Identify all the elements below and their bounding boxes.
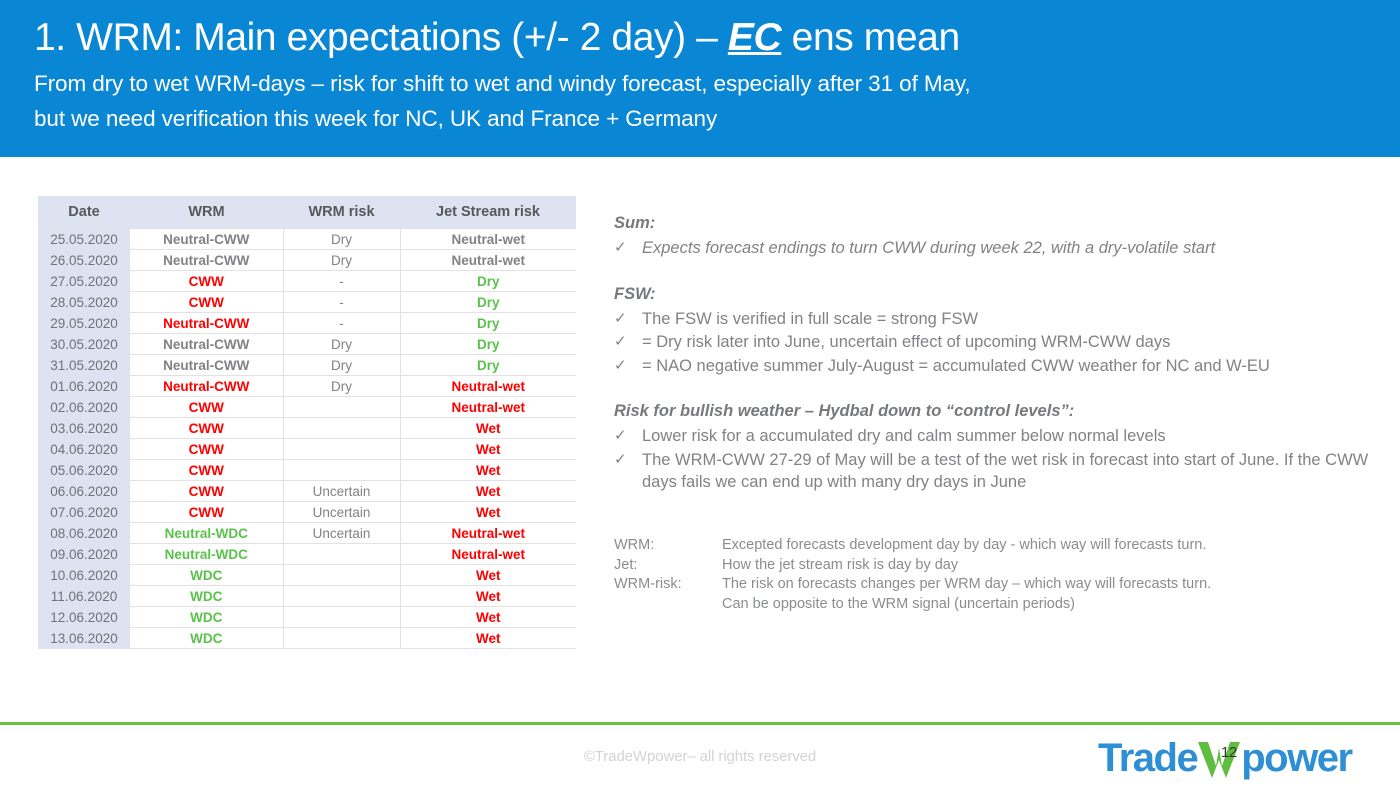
table-row: 11.06.2020WDCWet — [38, 586, 576, 607]
slide-header-banner: 1. WRM: Main expectations (+/- 2 day) – … — [0, 0, 1400, 157]
legend-definition: Can be opposite to the WRM signal (uncer… — [722, 595, 1374, 615]
table-row: 27.05.2020CWW-Dry — [38, 271, 576, 292]
checkmark-icon: ✓ — [614, 331, 642, 354]
table-row: 28.05.2020CWW-Dry — [38, 292, 576, 313]
cell-wrm: CWW — [130, 292, 283, 313]
legend-definition: How the jet stream risk is day by day — [722, 556, 1374, 576]
cell-jet-risk: Neutral-wet — [400, 376, 576, 397]
cell-date: 03.06.2020 — [38, 418, 130, 439]
cell-wrm-risk: Uncertain — [283, 523, 400, 544]
legend-term: Jet: — [614, 556, 722, 576]
notes-bullet: ✓The FSW is verified in full scale = str… — [614, 308, 1374, 331]
cell-wrm-risk — [283, 544, 400, 565]
cell-wrm: Neutral-CWW — [130, 376, 283, 397]
cell-wrm: CWW — [130, 502, 283, 523]
cell-wrm: WDC — [130, 628, 283, 649]
table-row: 09.06.2020Neutral-WDCNeutral-wet — [38, 544, 576, 565]
cell-date: 25.05.2020 — [38, 229, 130, 250]
cell-wrm: CWW — [130, 271, 283, 292]
page-subtitle-line2: but we need verification this week for N… — [34, 101, 1400, 136]
cell-jet-risk: Wet — [400, 481, 576, 502]
cell-jet-risk: Neutral-wet — [400, 544, 576, 565]
analysis-notes: Sum:✓Expects forecast endings to turn CW… — [614, 212, 1374, 495]
notes-section-heading: Risk for bullish weather – Hydbal down t… — [614, 400, 1374, 422]
cell-date: 12.06.2020 — [38, 607, 130, 628]
checkmark-icon: ✓ — [614, 449, 642, 494]
notes-bullet: ✓= NAO negative summer July-August = acc… — [614, 355, 1374, 378]
cell-date: 09.06.2020 — [38, 544, 130, 565]
cell-date: 27.05.2020 — [38, 271, 130, 292]
cell-wrm-risk — [283, 586, 400, 607]
notes-bullet: ✓The WRM-CWW 27-29 of May will be a test… — [614, 449, 1374, 494]
table-row: 31.05.2020Neutral-CWWDryDry — [38, 355, 576, 376]
cell-wrm-risk: Dry — [283, 376, 400, 397]
column-header-date: Date — [38, 196, 130, 229]
notes-bullet-text: = Dry risk later into June, uncertain ef… — [642, 331, 1374, 354]
cell-wrm: CWW — [130, 481, 283, 502]
legend-term: WRM: — [614, 536, 722, 556]
legend-term — [614, 595, 722, 615]
cell-wrm: Neutral-CWW — [130, 313, 283, 334]
logo-text-power: power — [1241, 736, 1351, 781]
cell-jet-risk: Wet — [400, 586, 576, 607]
cell-jet-risk: Wet — [400, 460, 576, 481]
table-row: 03.06.2020CWWWet — [38, 418, 576, 439]
cell-wrm-risk — [283, 439, 400, 460]
page-title-post: ens mean — [781, 16, 960, 59]
logo-text-trade: Trade — [1098, 736, 1197, 781]
table-row: 26.05.2020Neutral-CWWDryNeutral-wet — [38, 250, 576, 271]
cell-wrm: CWW — [130, 439, 283, 460]
cell-date: 13.06.2020 — [38, 628, 130, 649]
cell-date: 10.06.2020 — [38, 565, 130, 586]
notes-bullet-text: The WRM-CWW 27-29 of May will be a test … — [642, 449, 1374, 494]
legend-term: WRM-risk: — [614, 575, 722, 595]
cell-jet-risk: Wet — [400, 502, 576, 523]
table-row: 05.06.2020CWWWet — [38, 460, 576, 481]
page-subtitle-line1: From dry to wet WRM-days – risk for shif… — [34, 66, 1400, 101]
column-header-wrm-risk: WRM risk — [283, 196, 400, 229]
cell-date: 11.06.2020 — [38, 586, 130, 607]
cell-wrm-risk: Uncertain — [283, 481, 400, 502]
cell-date: 04.06.2020 — [38, 439, 130, 460]
cell-jet-risk: Neutral-wet — [400, 250, 576, 271]
cell-wrm: CWW — [130, 460, 283, 481]
wrm-forecast-table: Date WRM WRM risk Jet Stream risk 25.05.… — [38, 196, 576, 649]
cell-wrm-risk: Dry — [283, 334, 400, 355]
cell-wrm-risk: - — [283, 292, 400, 313]
legend-row: WRM-risk:The risk on forecasts changes p… — [614, 575, 1374, 595]
cell-wrm: WDC — [130, 607, 283, 628]
cell-jet-risk: Wet — [400, 607, 576, 628]
legend-row: Jet:How the jet stream risk is day by da… — [614, 556, 1374, 576]
column-header-wrm: WRM — [130, 196, 283, 229]
checkmark-icon: ✓ — [614, 355, 642, 378]
cell-wrm: CWW — [130, 418, 283, 439]
table-row: 25.05.2020Neutral-CWWDryNeutral-wet — [38, 229, 576, 250]
legend-definition: The risk on forecasts changes per WRM da… — [722, 575, 1374, 595]
cell-wrm: CWW — [130, 397, 283, 418]
legend-row: WRM:Excepted forecasts development day b… — [614, 536, 1374, 556]
table-header-row: Date WRM WRM risk Jet Stream risk — [38, 196, 576, 229]
cell-wrm-risk — [283, 565, 400, 586]
cell-date: 31.05.2020 — [38, 355, 130, 376]
notes-spacer — [614, 261, 1374, 283]
cell-jet-risk: Dry — [400, 313, 576, 334]
cell-date: 30.05.2020 — [38, 334, 130, 355]
cell-wrm-risk: Uncertain — [283, 502, 400, 523]
table-row: 01.06.2020Neutral-CWWDryNeutral-wet — [38, 376, 576, 397]
legend-row: Can be opposite to the WRM signal (uncer… — [614, 595, 1374, 615]
cell-date: 01.06.2020 — [38, 376, 130, 397]
table-row: 12.06.2020WDCWet — [38, 607, 576, 628]
notes-section-heading: Sum: — [614, 212, 1374, 234]
cell-date: 26.05.2020 — [38, 250, 130, 271]
cell-jet-risk: Dry — [400, 271, 576, 292]
wrm-forecast-table-container: Date WRM WRM risk Jet Stream risk 25.05.… — [38, 196, 576, 649]
table-row: 07.06.2020CWWUncertainWet — [38, 502, 576, 523]
checkmark-icon: ✓ — [614, 308, 642, 331]
cell-wrm-risk: - — [283, 313, 400, 334]
legend-definition: Excepted forecasts development day by da… — [722, 536, 1374, 556]
cell-jet-risk: Neutral-wet — [400, 523, 576, 544]
notes-spacer — [614, 378, 1374, 400]
cell-wrm-risk — [283, 628, 400, 649]
cell-date: 07.06.2020 — [38, 502, 130, 523]
cell-jet-risk: Dry — [400, 292, 576, 313]
cell-wrm: Neutral-CWW — [130, 355, 283, 376]
cell-jet-risk: Neutral-wet — [400, 229, 576, 250]
notes-bullet: ✓= Dry risk later into June, uncertain e… — [614, 331, 1374, 354]
table-row: 06.06.2020CWWUncertainWet — [38, 481, 576, 502]
cell-jet-risk: Wet — [400, 418, 576, 439]
table-row: 30.05.2020Neutral-CWWDryDry — [38, 334, 576, 355]
cell-jet-risk: Wet — [400, 565, 576, 586]
cell-date: 28.05.2020 — [38, 292, 130, 313]
cell-wrm: Neutral-WDC — [130, 544, 283, 565]
cell-jet-risk: Dry — [400, 355, 576, 376]
cell-wrm: Neutral-WDC — [130, 523, 283, 544]
table-row: 13.06.2020WDCWet — [38, 628, 576, 649]
cell-wrm: WDC — [130, 565, 283, 586]
checkmark-icon: ✓ — [614, 425, 642, 448]
cell-wrm-risk: Dry — [283, 250, 400, 271]
table-body: 25.05.2020Neutral-CWWDryNeutral-wet26.05… — [38, 229, 576, 649]
cell-wrm-risk — [283, 418, 400, 439]
page-number: 12 — [1221, 744, 1237, 761]
table-row: 02.06.2020CWWNeutral-wet — [38, 397, 576, 418]
checkmark-icon: ✓ — [614, 237, 642, 260]
cell-wrm-risk: Dry — [283, 229, 400, 250]
table-row: 29.05.2020Neutral-CWW-Dry — [38, 313, 576, 334]
column-header-jet-risk: Jet Stream risk — [400, 196, 576, 229]
cell-date: 02.06.2020 — [38, 397, 130, 418]
cell-wrm: Neutral-CWW — [130, 250, 283, 271]
cell-wrm-risk — [283, 397, 400, 418]
cell-date: 05.06.2020 — [38, 460, 130, 481]
terminology-legend: WRM:Excepted forecasts development day b… — [614, 536, 1374, 614]
cell-jet-risk: Wet — [400, 439, 576, 460]
cell-jet-risk: Neutral-wet — [400, 397, 576, 418]
notes-bullet-text: Expects forecast endings to turn CWW dur… — [642, 237, 1374, 260]
cell-wrm: WDC — [130, 586, 283, 607]
notes-bullet: ✓Lower risk for a accumulated dry and ca… — [614, 425, 1374, 448]
notes-bullet-text: = NAO negative summer July-August = accu… — [642, 355, 1374, 378]
table-row: 08.06.2020Neutral-WDCUncertainNeutral-we… — [38, 523, 576, 544]
cell-wrm-risk: - — [283, 271, 400, 292]
cell-date: 29.05.2020 — [38, 313, 130, 334]
cell-wrm: Neutral-CWW — [130, 229, 283, 250]
notes-bullet-text: The FSW is verified in full scale = stro… — [642, 308, 1374, 331]
cell-wrm-risk — [283, 607, 400, 628]
footer-divider-rule — [0, 722, 1400, 725]
page-title-pre: 1. WRM: Main expectations (+/- 2 day) – — [34, 16, 728, 59]
table-row: 10.06.2020WDCWet — [38, 565, 576, 586]
table-row: 04.06.2020CWWWet — [38, 439, 576, 460]
cell-date: 08.06.2020 — [38, 523, 130, 544]
cell-jet-risk: Dry — [400, 334, 576, 355]
cell-jet-risk: Wet — [400, 628, 576, 649]
cell-wrm: Neutral-CWW — [130, 334, 283, 355]
cell-wrm-risk — [283, 460, 400, 481]
cell-date: 06.06.2020 — [38, 481, 130, 502]
notes-bullet-text: Lower risk for a accumulated dry and cal… — [642, 425, 1374, 448]
cell-wrm-risk: Dry — [283, 355, 400, 376]
notes-bullet: ✓Expects forecast endings to turn CWW du… — [614, 237, 1374, 260]
notes-section-heading: FSW: — [614, 283, 1374, 305]
page-title-emphasis: EC — [728, 16, 781, 59]
page-title: 1. WRM: Main expectations (+/- 2 day) – … — [34, 10, 1400, 66]
